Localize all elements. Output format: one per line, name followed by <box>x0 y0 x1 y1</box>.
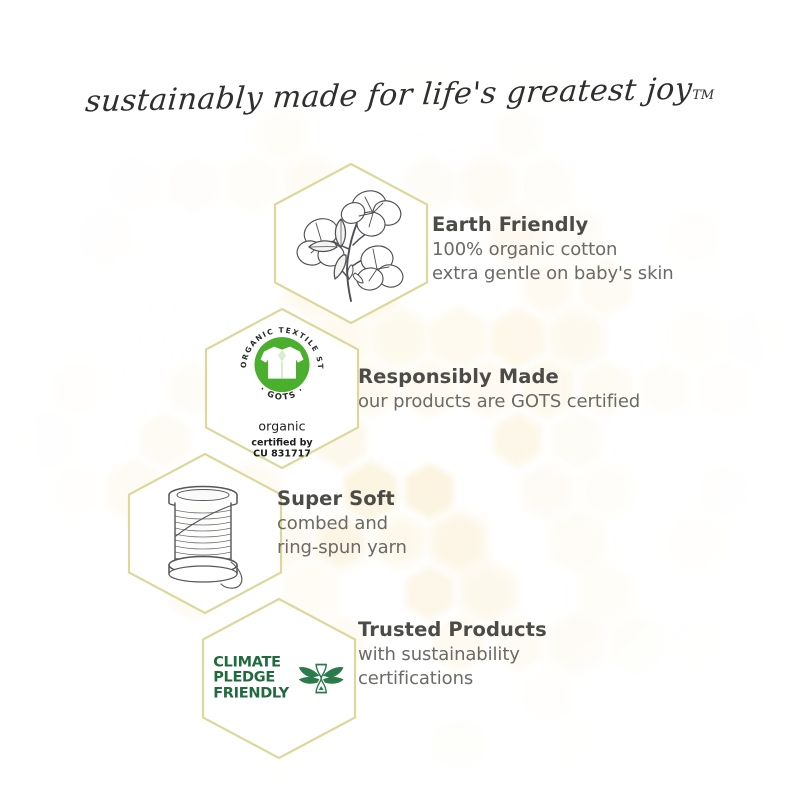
trademark-symbol: TM <box>692 88 714 103</box>
headline-text: sustainably made for life's greatest joy <box>84 72 694 120</box>
hexagon-earth-friendly <box>272 162 430 325</box>
winged-hourglass-icon <box>297 659 345 699</box>
feature-line: our products are GOTS certified <box>358 390 640 414</box>
gots-organic-label: organic <box>258 418 305 433</box>
hexagon-trusted-products: CLIMATE PLEDGE FRIENDLY <box>200 597 358 760</box>
feature-line: extra gentle on baby's skin <box>432 262 674 286</box>
feature-text-super-soft: Super Soft combed and ring-spun yarn <box>277 487 407 559</box>
cpf-line-1: CLIMATE <box>213 655 289 671</box>
feature-text-trusted-products: Trusted Products with sustainability cer… <box>358 618 547 690</box>
headline: sustainably made for life's greatest joy… <box>0 78 800 113</box>
feature-title: Super Soft <box>277 487 407 512</box>
feature-line: ring-spun yarn <box>277 536 407 560</box>
feature-title: Trusted Products <box>358 618 547 643</box>
cpf-line-3: FRIENDLY <box>213 686 289 702</box>
climate-pledge-friendly-icon: CLIMATE PLEDGE FRIENDLY <box>213 655 345 702</box>
feature-title: Responsibly Made <box>358 365 640 390</box>
gots-certification-icon: GLOBAL ORGANIC TEXTILE STANDARD · GOTS ·… <box>234 316 330 461</box>
promo-graphic: sustainably made for life's greatest joy… <box>0 0 800 800</box>
cpf-line-2: PLEDGE <box>213 671 289 687</box>
feature-title: Earth Friendly <box>432 213 674 238</box>
feature-text-earth-friendly: Earth Friendly 100% organic cotton extra… <box>432 213 674 285</box>
hexagon-responsibly-made: GLOBAL ORGANIC TEXTILE STANDARD · GOTS ·… <box>203 307 361 470</box>
feature-line: with sustainability <box>358 643 547 667</box>
hexagon-super-soft <box>126 452 284 615</box>
feature-line: certifications <box>358 667 547 691</box>
feature-text-responsibly-made: Responsibly Made our products are GOTS c… <box>358 365 640 414</box>
cotton-plant-sketch-icon <box>272 162 430 325</box>
feature-line: combed and <box>277 512 407 536</box>
thread-spool-sketch-icon <box>126 452 284 615</box>
gots-certified-by: certified by <box>251 437 312 448</box>
feature-line: 100% organic cotton <box>432 238 674 262</box>
